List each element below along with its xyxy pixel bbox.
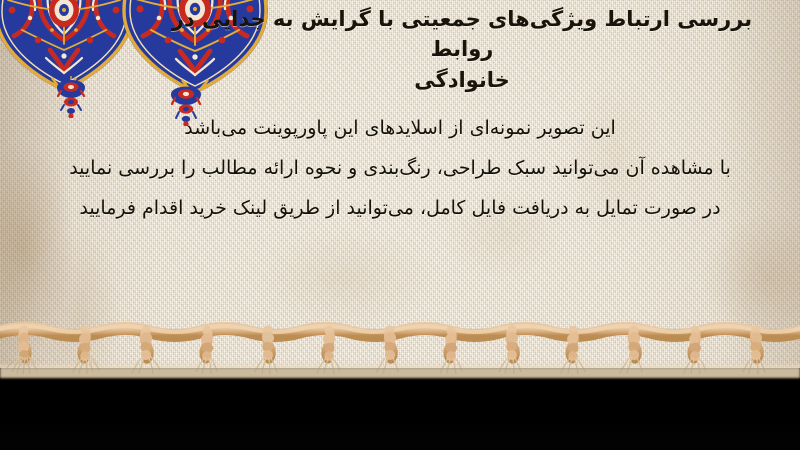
slide-body-text: این تصویر نمونه‌ای از اسلایدهای این پاور… bbox=[12, 108, 788, 228]
slide-title-line-2: خانوادگی bbox=[414, 68, 510, 92]
slide-body-line-1: این تصویر نمونه‌ای از اسلایدهای این پاور… bbox=[12, 108, 788, 148]
slide-title-line-1: بررسی ارتباط ویژگی‌های جمعیتی با گرایش ب… bbox=[172, 7, 752, 61]
slide-body-line-2: با مشاهده آن می‌توانید سبک طراحی، رنگ‌بن… bbox=[12, 148, 788, 188]
slide-body-line-3: در صورت تمایل به دریافت فایل کامل، می‌تو… bbox=[12, 188, 788, 228]
slide-title: بررسی ارتباط ویژگی‌های جمعیتی با گرایش ب… bbox=[142, 4, 782, 95]
presentation-slide: بررسی ارتباط ویژگی‌های جمعیتی با گرایش ب… bbox=[0, 0, 800, 450]
carpet-edge-lip bbox=[0, 362, 800, 378]
black-bottom-band bbox=[0, 368, 800, 450]
